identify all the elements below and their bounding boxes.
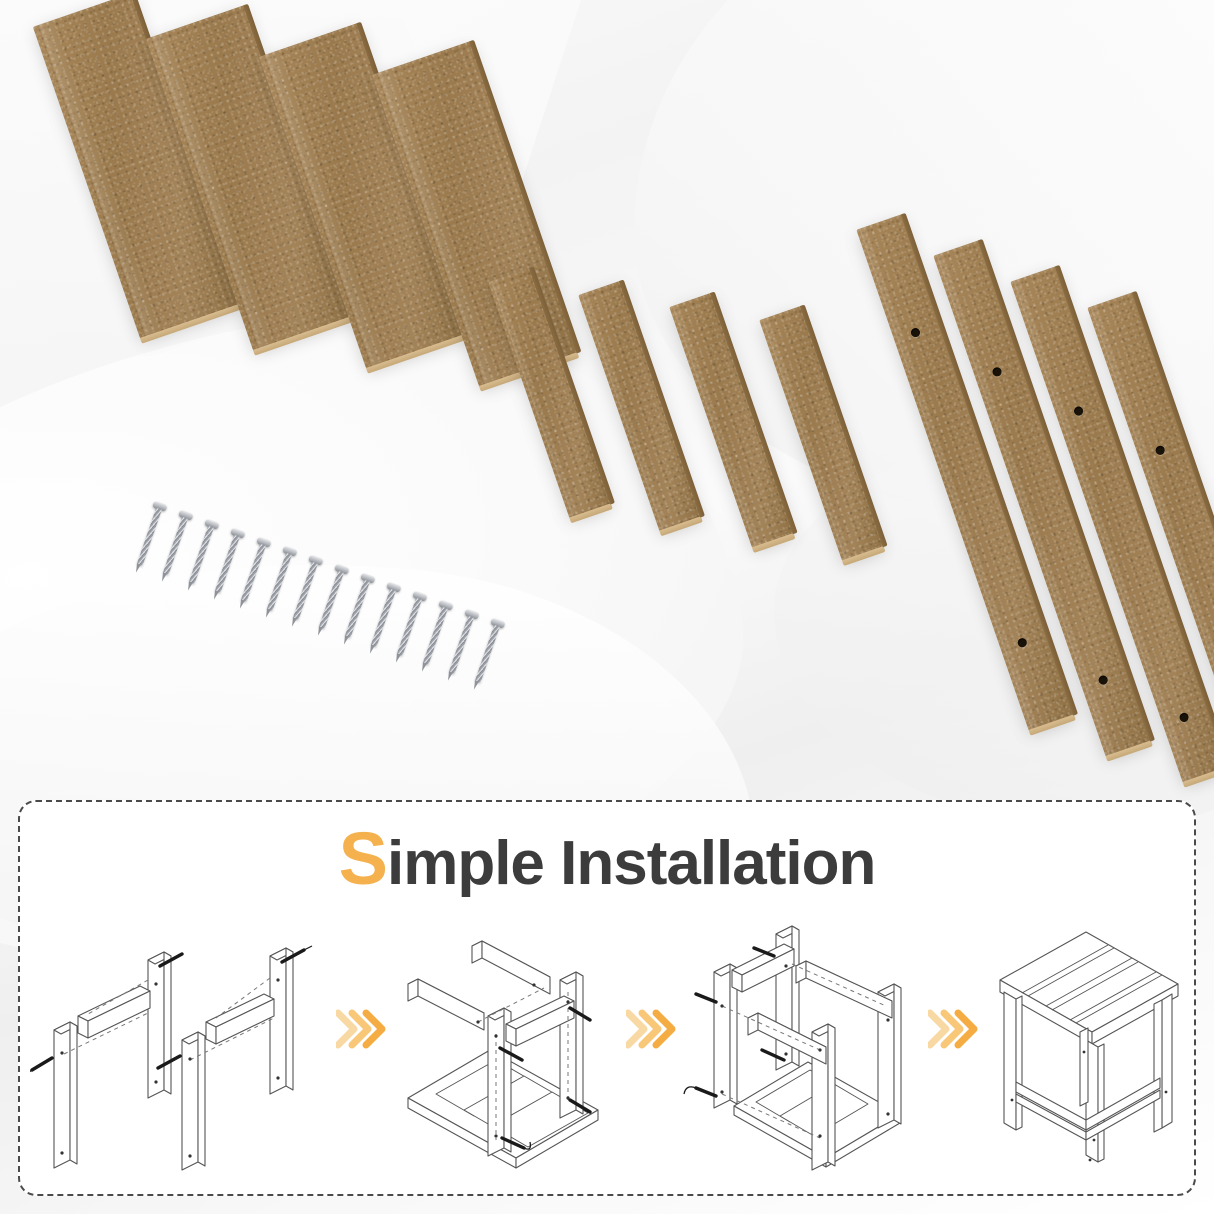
chevron-right-icon [626,1007,678,1051]
predrilled-hole [1097,674,1108,685]
install-step-4 [982,922,1202,1172]
chevron-right-icon [336,1007,388,1051]
step-4-diagram [982,922,1202,1172]
predrilled-hole [1017,637,1028,648]
predrilled-hole [910,327,921,338]
install-step-1 [30,922,340,1172]
simple-installation-panel: Simple Installation [18,800,1196,1196]
step-1-diagram [30,922,340,1172]
chevron-right-icon [928,1007,980,1051]
step-arrow [336,1007,388,1051]
title-capital-letter: S [339,817,387,900]
install-step-3 [676,922,956,1172]
predrilled-hole [1154,445,1165,456]
predrilled-hole [1178,712,1189,723]
predrilled-hole [991,366,1002,377]
step-3-diagram [676,922,956,1172]
step-arrow [928,1007,980,1051]
step-arrow [626,1007,678,1051]
title-rest: imple Installation [387,829,875,898]
product-image-canvas: Simple Installation [0,0,1214,1214]
page-title: Simple Installation [20,822,1194,896]
predrilled-hole [1073,405,1084,416]
